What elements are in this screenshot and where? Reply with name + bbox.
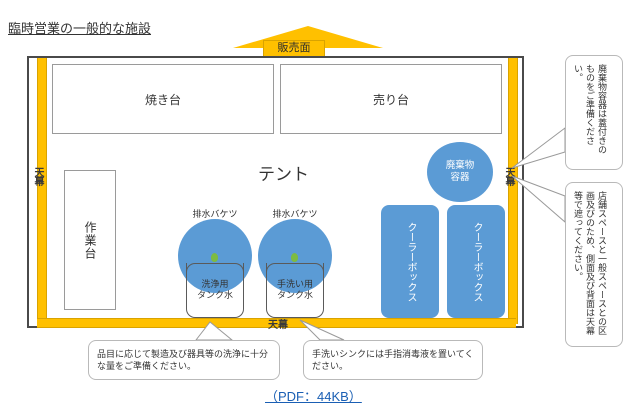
washing-tank-label-line1: 洗浄用 — [186, 279, 244, 290]
cooler-box-2-label: クーラーボックス — [470, 222, 482, 302]
cooler-box-2: クーラーボックス — [447, 205, 505, 318]
sales-table-label: 売り台 — [373, 91, 409, 108]
callout-partition-text: 店舗スペースと一般スペースとの区画及びのため、側面及び背面は天幕等で遮ってくださ… — [572, 191, 608, 338]
callout-hand-sanitizer: 手洗いシンクには手指消毒液を置いてください。 — [303, 340, 483, 380]
handwash-tank-label-line2: タンク水 — [266, 290, 324, 301]
page-title: 臨時営業の一般的な施設 — [8, 18, 151, 37]
bucket-valve-icon — [291, 253, 298, 262]
waste-container-label-line1: 廃棄物 — [446, 160, 475, 172]
pdf-download-link[interactable]: （PDF：44KB） — [265, 386, 362, 405]
callout-water-volume: 品目に応じて製造及び器具等の洗浄に十分な量をご準備ください。 — [88, 340, 280, 380]
waste-container-label-line2: 容器 — [450, 172, 469, 184]
bucket-valve-icon — [211, 253, 218, 262]
tent-label-bottom: 天幕 — [268, 316, 288, 331]
sales-face-label: 販売面 — [263, 40, 325, 57]
grill-table-box: 焼き台 — [52, 64, 274, 134]
washing-tank-label-line2: タンク水 — [186, 290, 244, 301]
cooler-box-1-label: クーラーボックス — [404, 222, 416, 302]
callout-partition: 店舗スペースと一般スペースとの区画及びのため、側面及び背面は天幕等で遮ってくださ… — [565, 182, 623, 347]
tent-curtain-right — [508, 58, 518, 324]
callout-waste-container-lid-text: 廃棄物容器は蓋付きのものをご準備ください。 — [572, 64, 608, 161]
cooler-box-1: クーラーボックス — [381, 205, 439, 318]
sales-table-box: 売り台 — [280, 64, 502, 134]
work-table-label: 作業台 — [83, 221, 97, 260]
tent-label-left: 天幕 — [33, 167, 41, 185]
work-table-box: 作業台 — [64, 170, 116, 310]
callout-water-volume-text: 品目に応じて製造及び器具等の洗浄に十分な量をご準備ください。 — [97, 348, 271, 372]
callout-waste-container-lid: 廃棄物容器は蓋付きのものをご準備ください。 — [565, 55, 623, 170]
waste-container-circle: 廃棄物 容器 — [427, 142, 493, 202]
grill-table-label: 焼き台 — [145, 91, 181, 108]
tent-label-right: 天幕 — [504, 167, 512, 185]
tent-curtain-left — [37, 58, 47, 324]
callout-hand-sanitizer-text: 手洗いシンクには手指消毒液を置いてください。 — [312, 348, 474, 372]
diagram-page: 臨時営業の一般的な施設 販売面 天幕 天幕 天幕 焼き台 売り台 作業台 テント… — [0, 0, 627, 419]
handwash-tank-label-line1: 手洗い用 — [266, 279, 324, 290]
tent-center-label: テント — [258, 160, 309, 185]
